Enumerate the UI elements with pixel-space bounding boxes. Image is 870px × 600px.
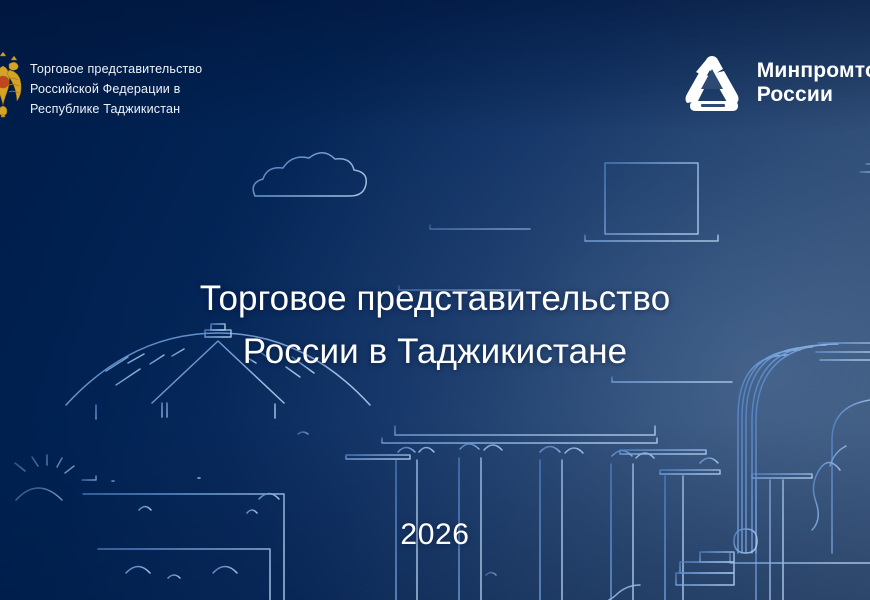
ministry-lockup: Минпромторг России: [682, 52, 870, 114]
slide-header: Торговое представительство Российской Фе…: [0, 0, 870, 145]
stairway-steps: [568, 529, 757, 600]
colonnade-with-capitals: [208, 426, 812, 600]
tower-block: [585, 163, 718, 301]
ledge-shapes: [399, 225, 752, 420]
domed-pavilion: [66, 318, 370, 419]
detail-ticks: [298, 164, 870, 575]
guide-dashes: [630, 260, 824, 590]
portal-box-left: [83, 478, 284, 600]
horizontal-cornice-bands: [0, 421, 870, 600]
cloud-outline: [253, 153, 366, 196]
organisation-name: Торговое представительство Российской Фе…: [30, 60, 202, 119]
russian-double-headed-eagle-emblem: [0, 52, 30, 118]
org-line-1: Торговое представительство: [30, 60, 202, 80]
ministry-wordmark: Минпромторг России: [757, 59, 870, 107]
ministry-line-2: России: [757, 83, 870, 107]
org-line-3: Республике Таджикистан: [30, 100, 202, 120]
org-line-2: Российской Федерации в: [30, 80, 202, 100]
facade-left-details: [15, 455, 96, 538]
slide-canvas: Торговое представительство Российской Фе…: [0, 0, 870, 600]
minpromtorg-triangle-logo: [682, 54, 744, 112]
ministry-line-1: Минпромторг: [757, 59, 870, 83]
